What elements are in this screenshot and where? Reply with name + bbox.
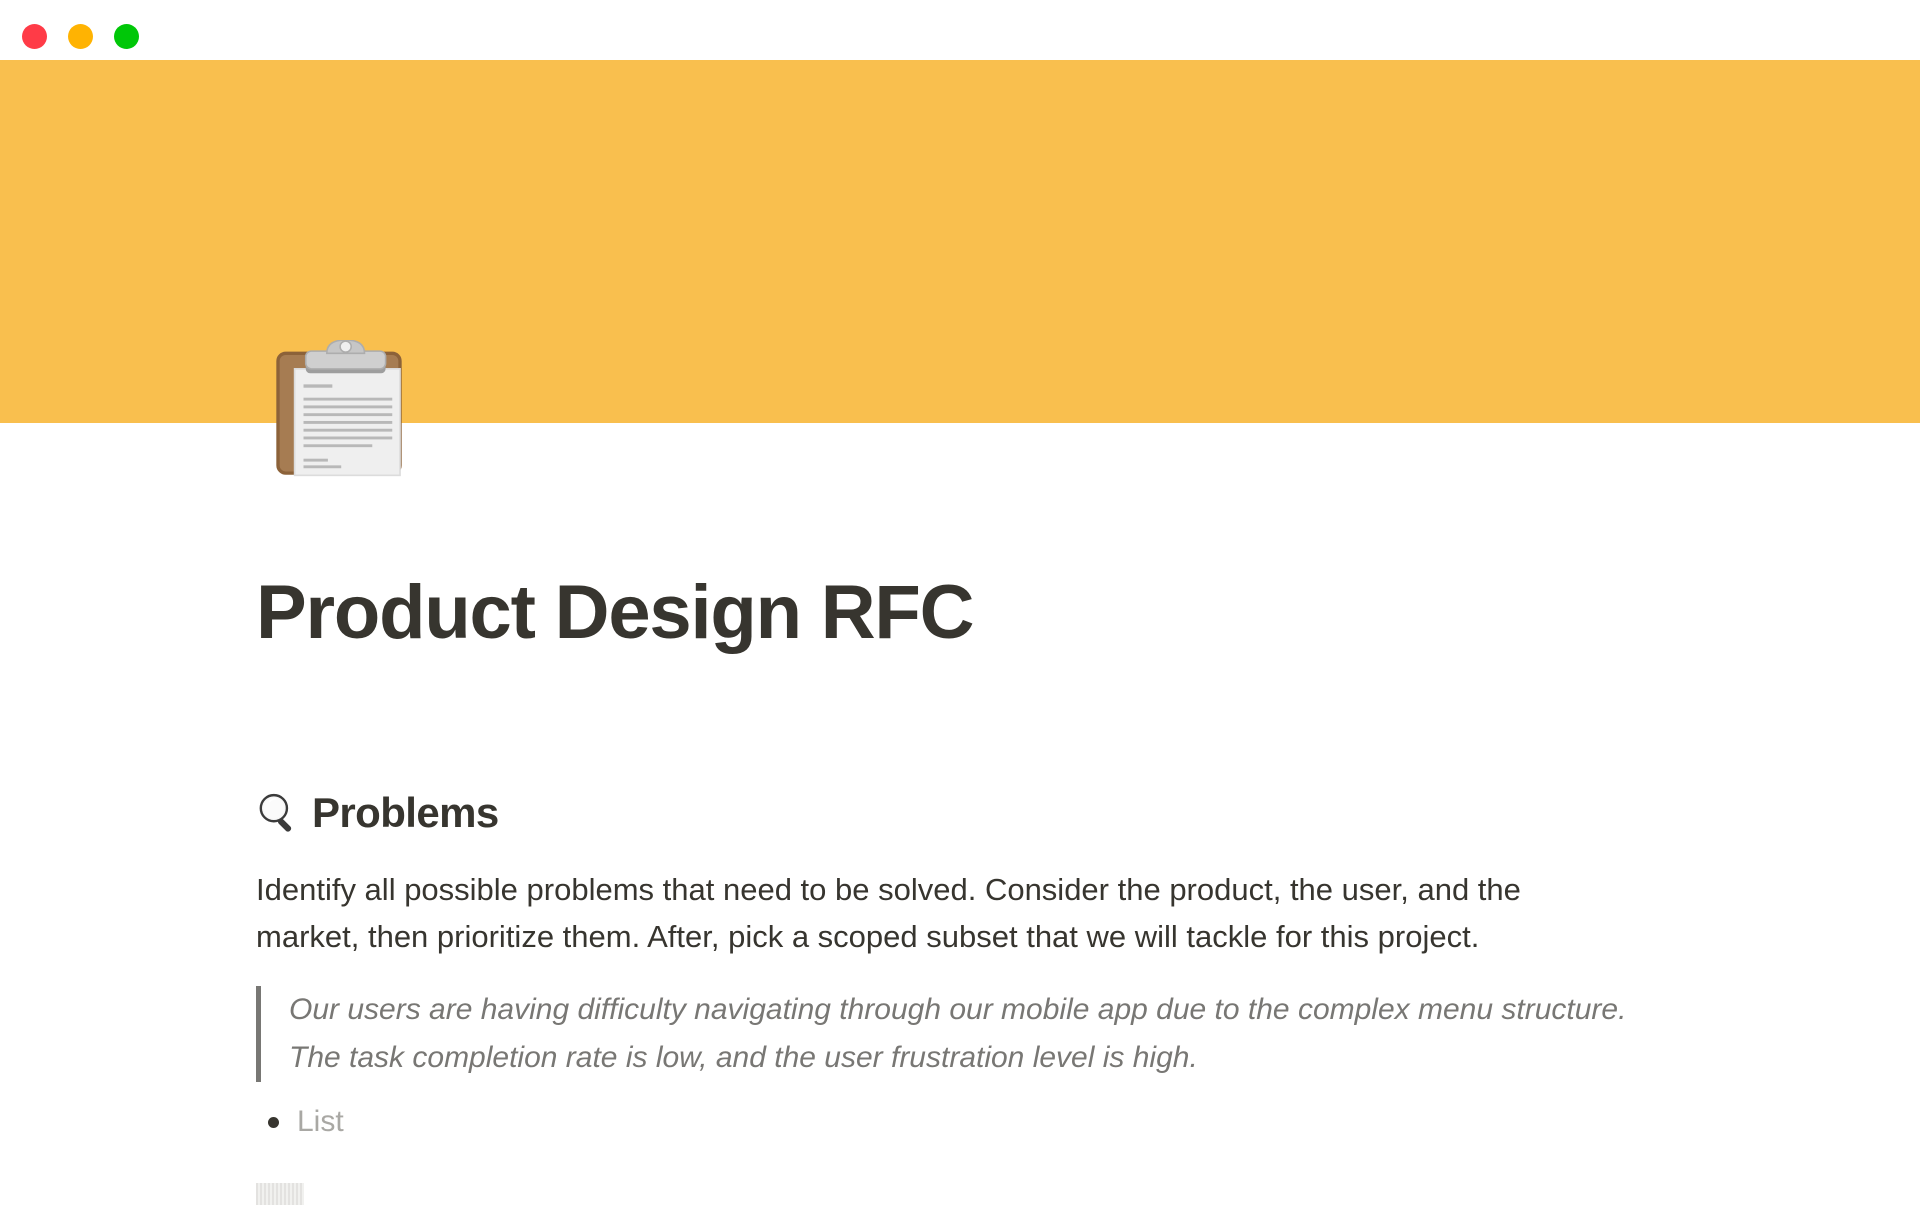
page-title[interactable]: Product Design RFC bbox=[256, 571, 973, 655]
list-item[interactable]: List bbox=[256, 1100, 1056, 1144]
window-maximize-button[interactable] bbox=[114, 24, 139, 49]
problem-statement-text: Our users are having difficulty navigati… bbox=[289, 993, 1626, 1074]
clipboard-emoji-icon[interactable] bbox=[268, 340, 410, 482]
cutoff-table-block[interactable] bbox=[256, 1183, 304, 1205]
bullet-point-icon bbox=[268, 1117, 279, 1128]
window-minimize-button[interactable] bbox=[68, 24, 93, 49]
magnifying-glass-icon bbox=[256, 791, 300, 835]
section-heading-label: Problems bbox=[312, 789, 499, 837]
section-description-text[interactable]: Identify all possible problems that need… bbox=[256, 866, 1626, 960]
cutoff-table-block-preview bbox=[256, 1183, 304, 1205]
traffic-light-group bbox=[22, 24, 139, 49]
section-heading-problems[interactable]: Problems bbox=[256, 789, 499, 837]
problem-bullet-list: List bbox=[256, 1100, 1056, 1144]
problem-statement-blockquote[interactable]: Our users are having difficulty navigati… bbox=[256, 986, 1636, 1082]
list-item-placeholder: List bbox=[297, 1100, 344, 1144]
document-body: Product Design RFC Problems Identify all… bbox=[0, 423, 1920, 1200]
window-close-button[interactable] bbox=[22, 24, 47, 49]
